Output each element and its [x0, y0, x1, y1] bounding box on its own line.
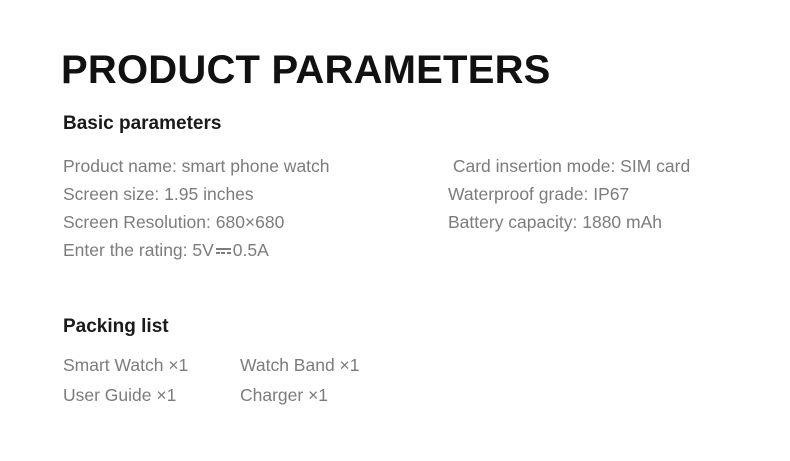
packing-item-watch-band: Watch Band ×1	[240, 350, 360, 380]
spec-battery-capacity: Battery capacity: 1880 mAh	[448, 208, 690, 236]
rating-suffix-text: 0.5A	[233, 240, 269, 260]
product-parameters-page: PRODUCT PARAMETERS Basic parameters Prod…	[0, 0, 790, 461]
packing-list-table: Smart Watch ×1 Watch Band ×1 User Guide …	[63, 350, 583, 410]
packing-item-charger: Charger ×1	[240, 380, 328, 410]
spec-product-name: Product name: smart phone watch	[63, 152, 330, 180]
spec-enter-the-rating: Enter the rating: 5V0.5A	[63, 236, 330, 264]
packing-item-smart-watch: Smart Watch ×1	[63, 350, 188, 380]
packing-list-row: Smart Watch ×1 Watch Band ×1	[63, 350, 583, 380]
packing-list-row: User Guide ×1 Charger ×1	[63, 380, 583, 410]
spec-screen-size: Screen size: 1.95 inches	[63, 180, 330, 208]
packing-list-heading: Packing list	[63, 315, 169, 339]
basic-parameters-right-column: Card insertion mode: SIM card Waterproof…	[448, 152, 690, 236]
basic-parameters-heading: Basic parameters	[63, 112, 221, 136]
packing-item-user-guide: User Guide ×1	[63, 380, 176, 410]
page-title: PRODUCT PARAMETERS	[61, 46, 551, 94]
rating-prefix-text: Enter the rating: 5V	[63, 240, 214, 260]
spec-waterproof-grade: Waterproof grade: IP67	[448, 180, 690, 208]
dc-current-icon	[216, 246, 231, 257]
spec-screen-resolution: Screen Resolution: 680×680	[63, 208, 330, 236]
spec-card-insertion-mode: Card insertion mode: SIM card	[448, 152, 690, 180]
basic-parameters-left-column: Product name: smart phone watch Screen s…	[63, 152, 330, 264]
